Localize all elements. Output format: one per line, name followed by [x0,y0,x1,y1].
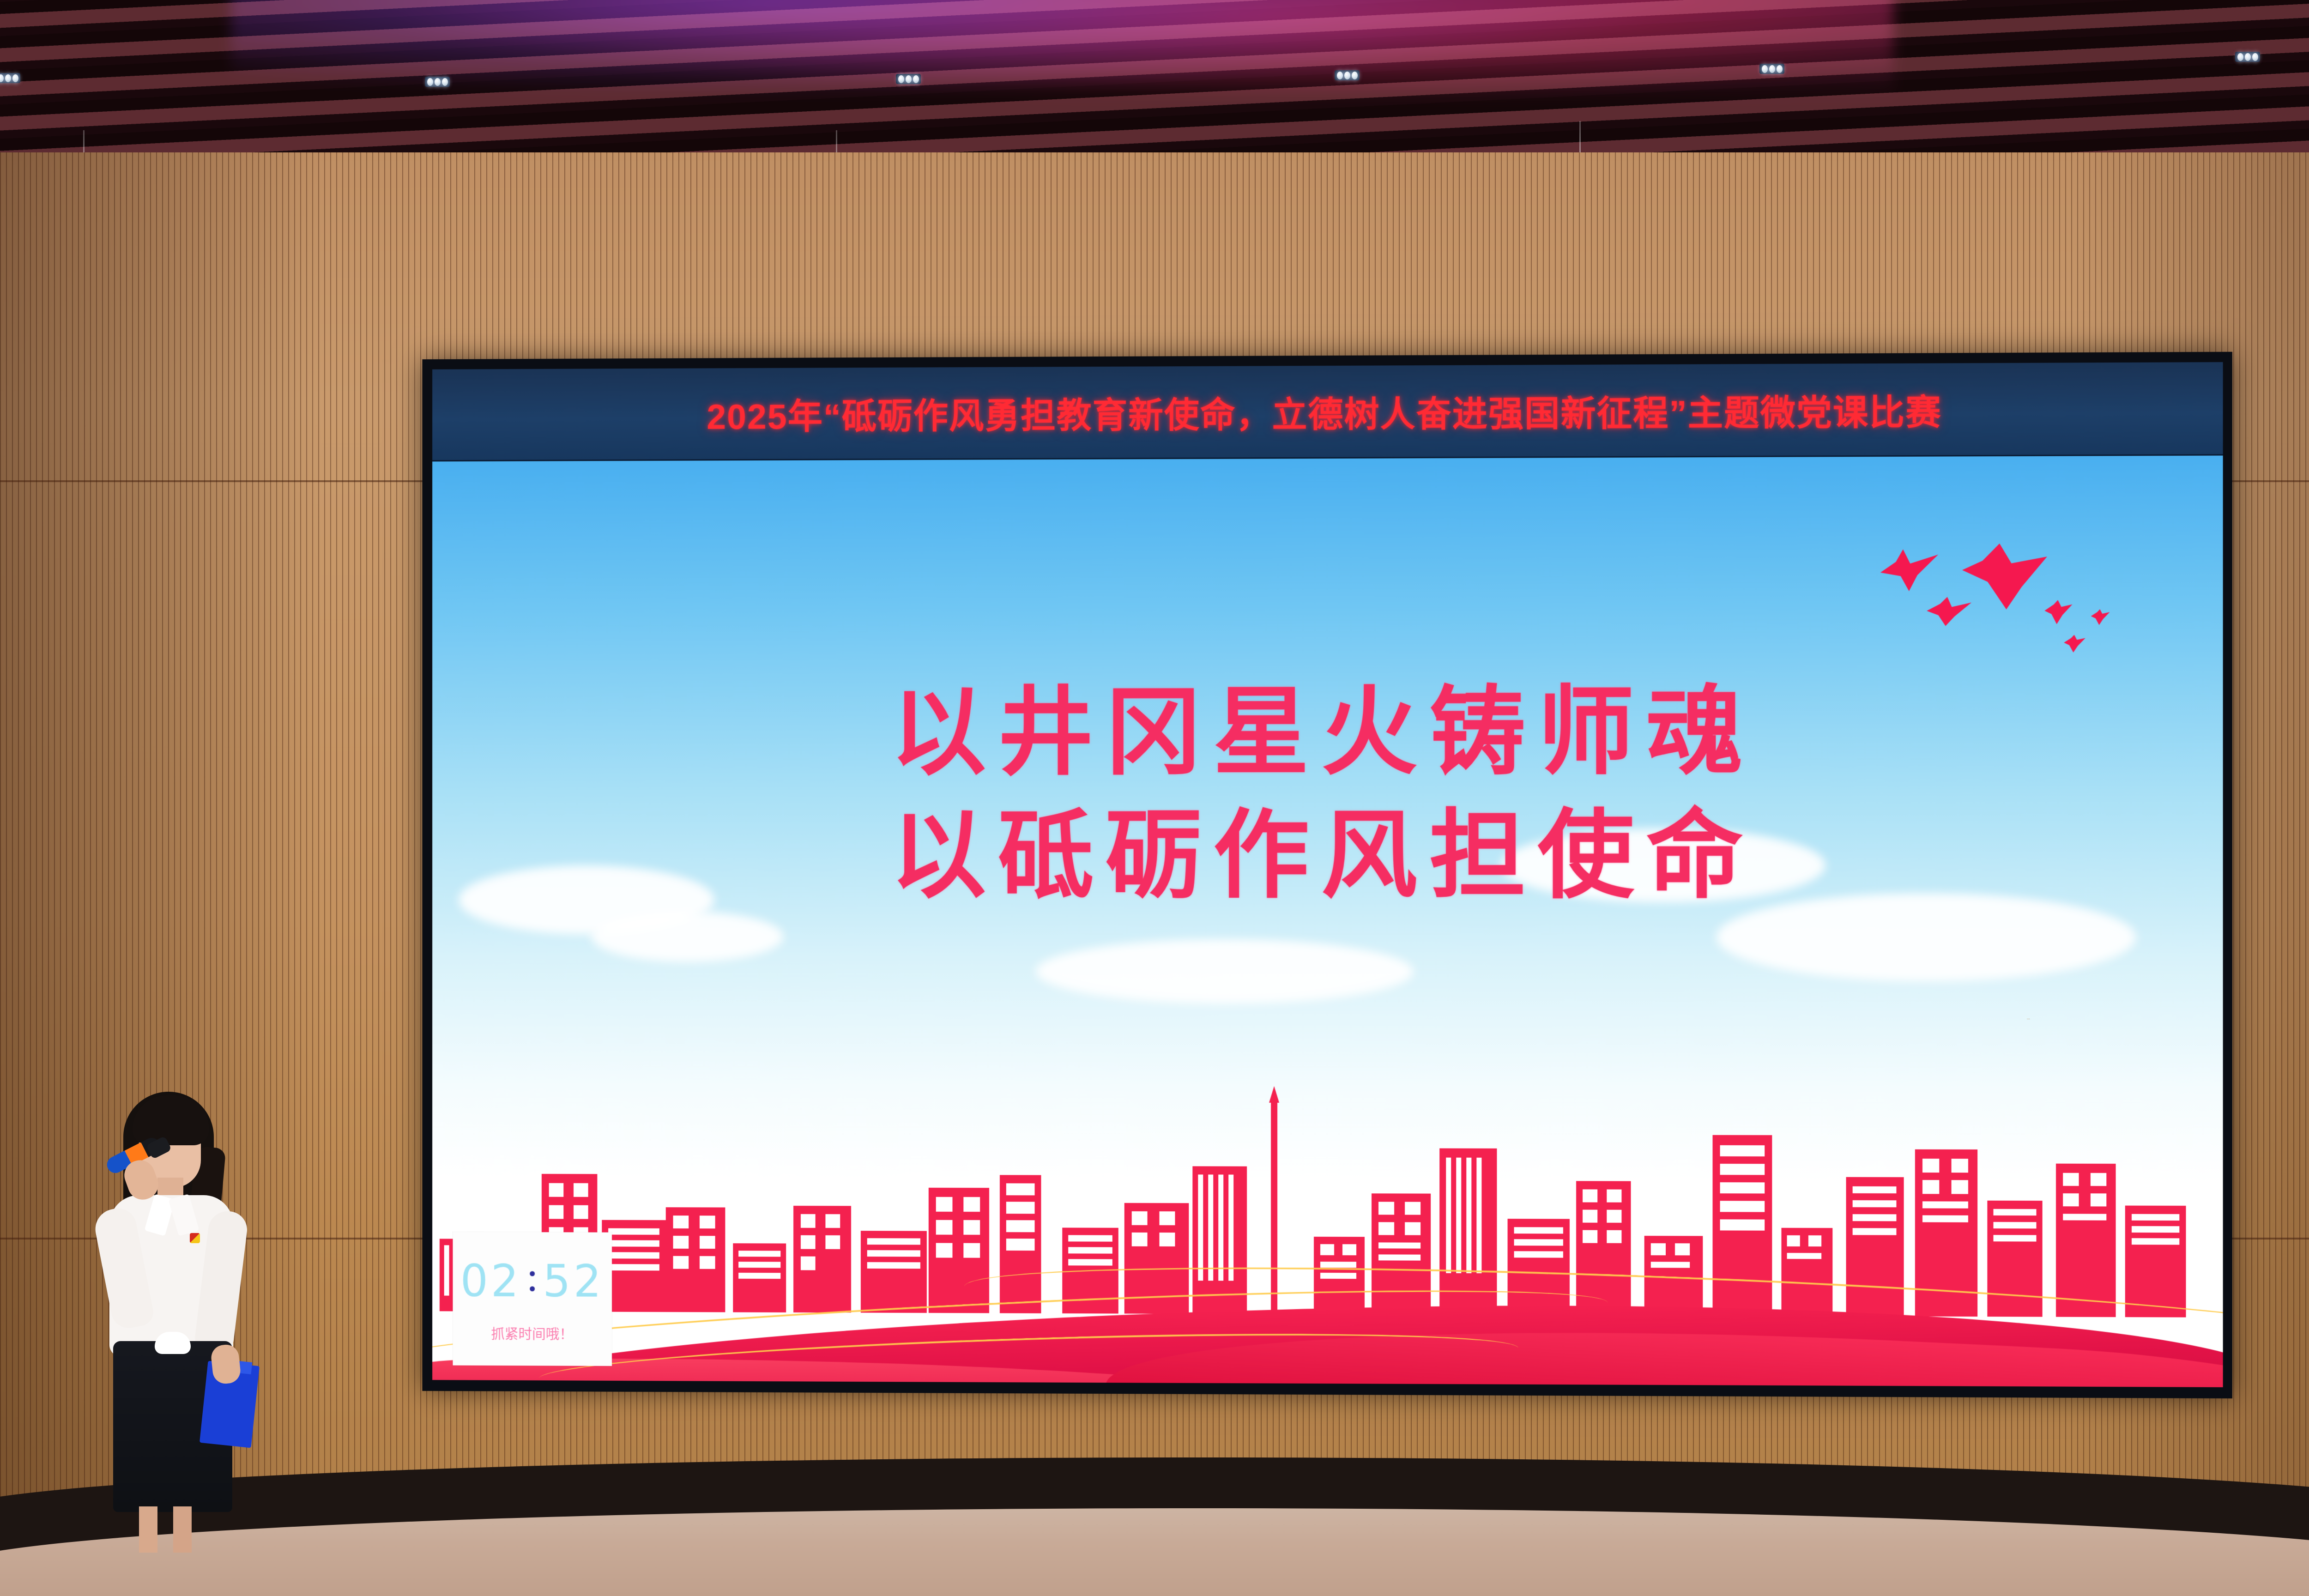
building-shape [2125,1206,2186,1318]
ceiling-spotlight-cluster [2235,52,2260,62]
timer-minutes: 02 [460,1255,521,1307]
building-shape [2056,1164,2116,1317]
building-shape [861,1231,927,1313]
led-screen: 2025年“砥砺作风勇担教育新使命，立德树人奋进强国新征程”主题微党课比赛 [432,362,2223,1387]
ceiling-spotlight-cluster [425,77,450,87]
event-banner-title: 2025年“砥砺作风勇担教育新使命，立德树人奋进强国新征程”主题微党课比赛 [707,384,1942,439]
building-shape [793,1206,851,1312]
leg-right [173,1506,192,1553]
flying-birds-group [1871,539,2132,647]
countdown-timer-value: 02 52 [460,1255,604,1307]
ceiling-colored-lighting [231,0,1893,115]
auditorium-scene: 2025年“砥砺作风勇担教育新使命，立德树人奋进强国新征程”主题微党课比赛 [0,0,2309,1596]
ceiling-spotlight-cluster [896,74,921,84]
bird-icon [1962,544,2047,610]
building-shape [733,1243,786,1312]
ceiling-spotlight-cluster [1759,64,1784,74]
slide-headline: 以井冈星火铸师魂 以砥砺作风担使命 [432,670,2223,917]
blouse-knot [155,1332,191,1354]
bird-icon [1879,548,1939,593]
bird-icon [2043,600,2073,624]
timer-note: 抓紧时间哦！ [491,1322,573,1342]
leg-left [139,1506,157,1553]
timer-seconds: 52 [543,1256,604,1307]
timer-colon-icon [530,1271,535,1291]
countdown-timer-panel: 02 52 抓紧时间哦！ [453,1232,612,1366]
cloud-shape [592,912,784,962]
presentation-slide: 以井冈星火铸师魂 以砥砺作风担使命 [432,455,2223,1387]
building-shape [666,1207,725,1312]
ceiling-spotlight-cluster [0,73,20,83]
bird-icon [1927,596,1971,628]
led-screen-frame: 2025年“砥砺作风勇担教育新使命，立德树人奋进强国新征程”主题微党课比赛 [422,352,2232,1398]
bird-icon [2063,635,2085,653]
city-skyline [432,1068,2223,1387]
party-badge-icon [190,1233,200,1243]
headline-line-1: 以井冈星火铸师魂 [432,670,2223,795]
cloud-shape [1035,939,1414,1004]
event-banner: 2025年“砥砺作风勇担教育新使命，立德树人奋进强国新征程”主题微党课比赛 [432,362,2223,461]
headline-line-2: 以砥砺作风担使命 [432,793,2223,917]
bird-icon [2090,609,2110,625]
ceiling-spotlight-cluster [1335,70,1360,80]
presenter [81,1092,275,1554]
